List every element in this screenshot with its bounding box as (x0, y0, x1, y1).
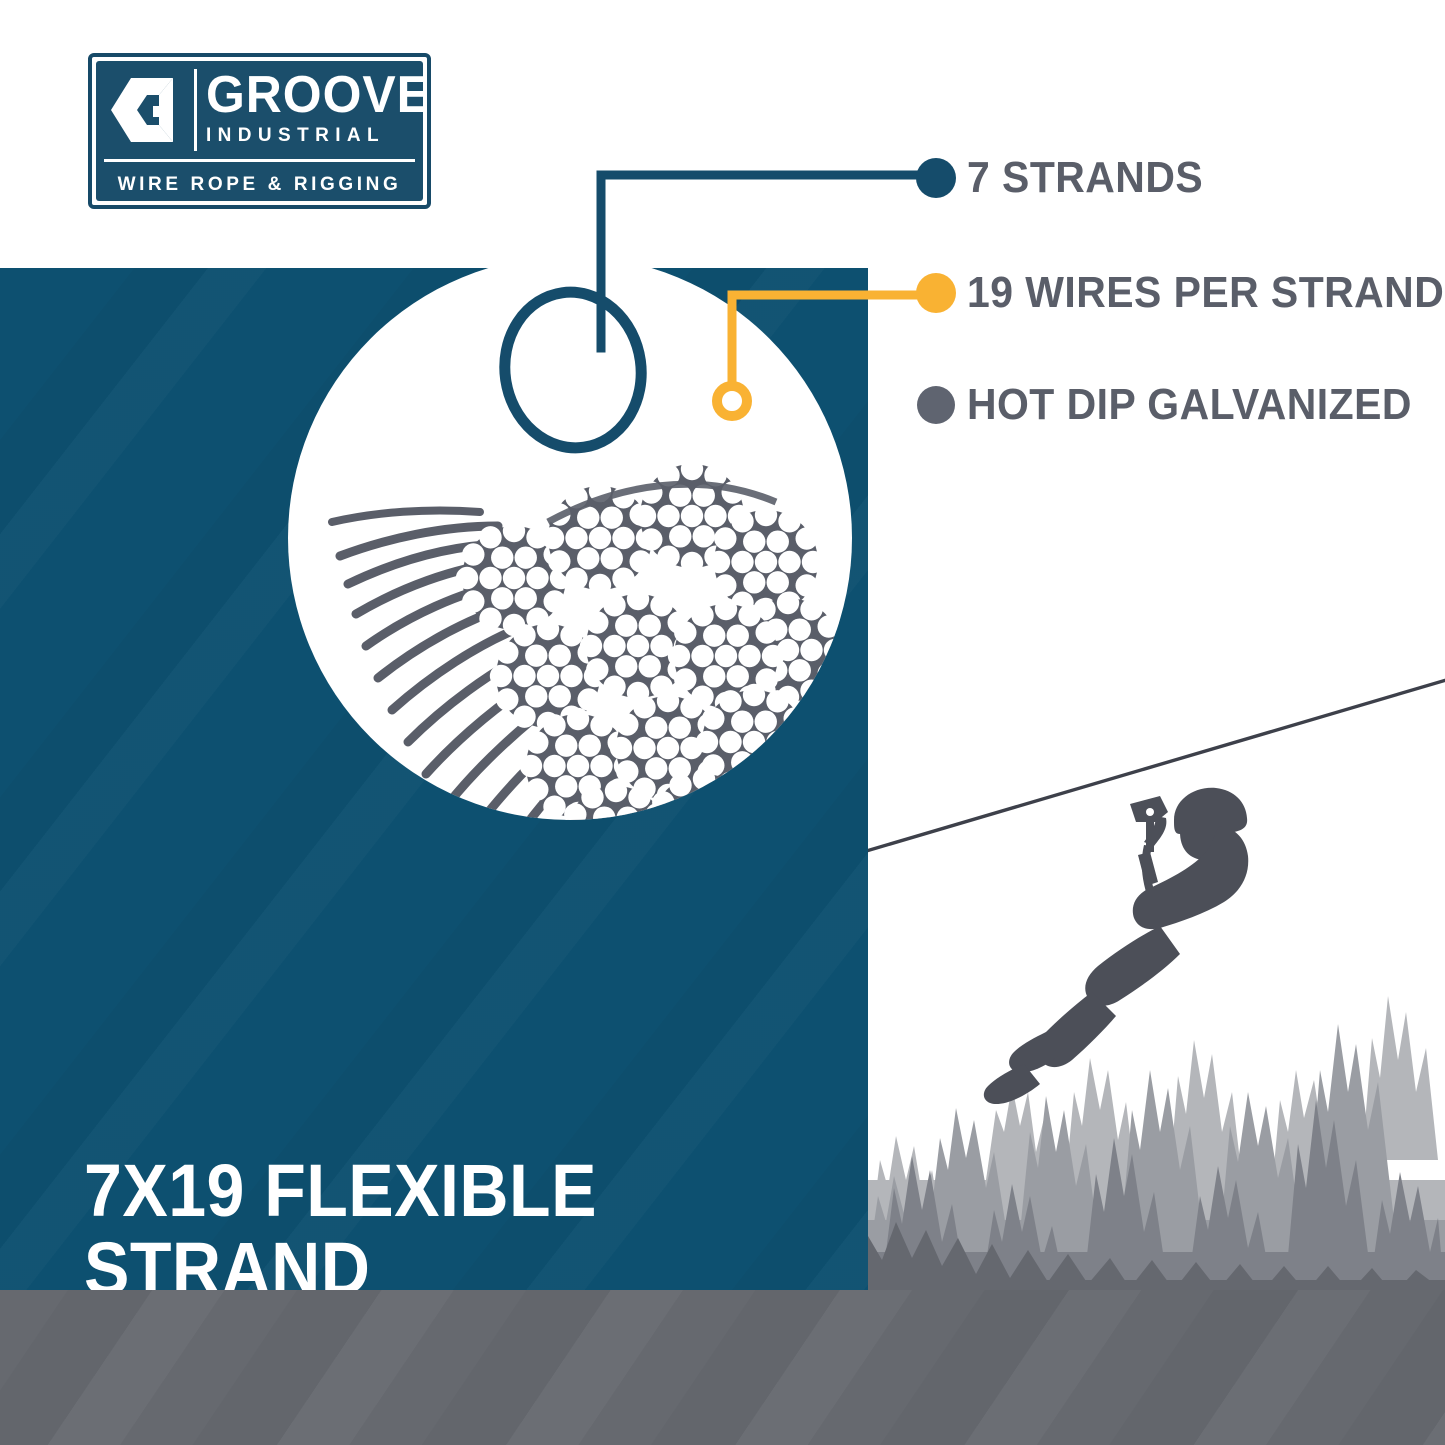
headline-line-2: STRAND CONSTRUCTION (84, 1230, 783, 1290)
rope-illustration-circle (288, 256, 852, 820)
bottom-bar-stripe-texture (0, 1290, 1445, 1445)
callout-dot-wrap-galvanized (905, 386, 967, 424)
logo-mark-cell (96, 61, 194, 159)
callout-dot-galvanized (917, 386, 955, 424)
callout-label-wires: 19 WIRES PER STRAND (967, 270, 1444, 316)
strand-magnifier-ring-icon (288, 256, 852, 820)
callout-strands: 7 STRANDS (905, 155, 1221, 201)
callout-dot-strands (916, 158, 956, 198)
logo-wordmark: GROOVE INDUSTRIAL (206, 67, 423, 157)
callout-wires-per-strand: 19 WIRES PER STRAND (905, 270, 1445, 316)
zipline-scene (868, 640, 1445, 1300)
bottom-bar (0, 1290, 1445, 1445)
callout-label-strands: 7 STRANDS (967, 155, 1203, 201)
g-hexagon-logo-icon (109, 77, 181, 143)
zipline-scene-illustration (868, 640, 1445, 1300)
headline-line-1: 7X19 FLEXIBLE (84, 1152, 783, 1230)
callout-label-galvanized: HOT DIP GALVANIZED (967, 382, 1412, 428)
logo-divider-vertical (194, 69, 197, 151)
brand-subname: INDUSTRIAL (206, 123, 423, 149)
callout-dot-wrap-strands (905, 158, 967, 198)
infographic-canvas: 7X19 FLEXIBLE STRAND CONSTRUCTION Our ai… (0, 0, 1445, 1445)
page-title: 7X19 FLEXIBLE STRAND CONSTRUCTION (84, 1152, 783, 1290)
brand-logo[interactable]: GROOVE INDUSTRIAL WIRE ROPE & RIGGING (88, 53, 431, 209)
brand-logo-inner: GROOVE INDUSTRIAL WIRE ROPE & RIGGING (96, 61, 423, 201)
callout-dot-wrap-wires (905, 273, 967, 313)
callout-dot-wires (916, 273, 956, 313)
brand-name: GROOVE (206, 67, 415, 123)
zipline-rider-silhouette (984, 788, 1248, 1104)
callout-hot-dip-galvanized: HOT DIP GALVANIZED (905, 382, 1445, 428)
brand-tagline: WIRE ROPE & RIGGING (96, 162, 423, 201)
